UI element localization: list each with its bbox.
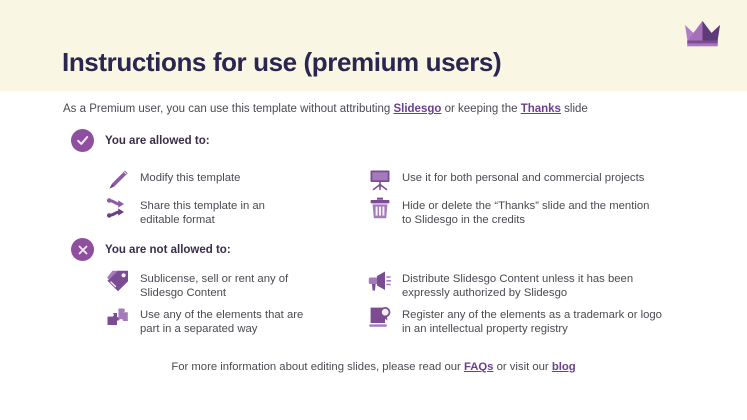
list-item-label: Register any of the elements as a tradem… (402, 305, 662, 336)
list-item-label: Sublicense, sell or rent any of Slidesgo… (140, 269, 288, 300)
list-item: Hide or delete the “Thanks” slide and th… (368, 196, 649, 227)
section-header-not-allowed: You are not allowed to: (71, 238, 231, 261)
crown-icon (684, 19, 721, 47)
footer-part1: For more information about editing slide… (171, 361, 464, 373)
cross-circle-icon (71, 238, 94, 261)
check-circle-icon (71, 129, 94, 152)
section-label-not-allowed: You are not allowed to: (105, 244, 231, 256)
list-item: Sublicense, sell or rent any of Slidesgo… (106, 269, 288, 300)
page-title: Instructions for use (premium users) (62, 47, 501, 78)
megaphone-icon (368, 269, 392, 293)
list-item-label: Use any of the elements that are part in… (140, 305, 303, 336)
intro-part1: As a Premium user, you can use this temp… (63, 103, 393, 115)
list-item: Use it for both personal and commercial … (368, 168, 644, 192)
trademark-stamp-icon (368, 305, 392, 329)
puzzle-pieces-icon (106, 305, 130, 329)
share-arrows-icon (106, 196, 130, 220)
projector-screen-icon (368, 168, 392, 192)
pencil-icon (106, 168, 130, 192)
list-item: Modify this template (106, 168, 240, 192)
blog-link[interactable]: blog (552, 361, 576, 373)
intro-part3: slide (561, 103, 588, 115)
intro-part2: or keeping the (441, 103, 520, 115)
section-label-allowed: You are allowed to: (105, 135, 210, 147)
list-item-label: Modify this template (140, 168, 240, 185)
list-item: Distribute Slidesgo Content unless it ha… (368, 269, 633, 300)
footer-text: For more information about editing slide… (0, 361, 747, 373)
price-tags-icon (106, 269, 130, 293)
slide-canvas: Instructions for use (premium users) As … (0, 0, 747, 420)
list-item-label: Distribute Slidesgo Content unless it ha… (402, 269, 633, 300)
faqs-link[interactable]: FAQs (464, 361, 494, 373)
list-item-label: Use it for both personal and commercial … (402, 168, 644, 185)
thanks-link[interactable]: Thanks (521, 103, 561, 115)
trash-icon (368, 196, 392, 220)
list-item-label: Share this template in an editable forma… (140, 196, 265, 227)
footer-part2: or visit our (493, 361, 551, 373)
list-item: Share this template in an editable forma… (106, 196, 265, 227)
slidesgo-link[interactable]: Slidesgo (393, 103, 441, 115)
intro-text: As a Premium user, you can use this temp… (63, 103, 588, 115)
list-item-label: Hide or delete the “Thanks” slide and th… (402, 196, 649, 227)
list-item: Use any of the elements that are part in… (106, 305, 303, 336)
section-header-allowed: You are allowed to: (71, 129, 210, 152)
list-item: Register any of the elements as a tradem… (368, 305, 662, 336)
